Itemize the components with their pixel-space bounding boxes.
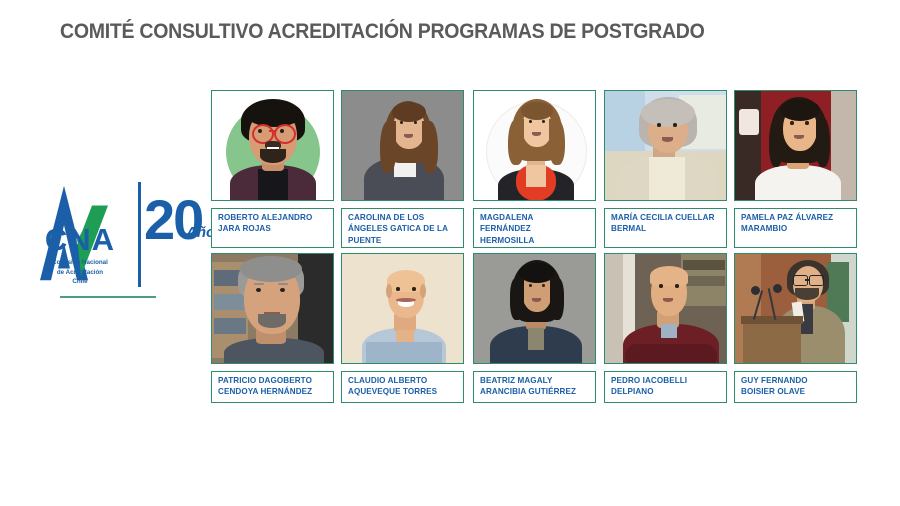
name-line: MAGDALENA [480,212,590,223]
member-name-claudio-alberto-aqueveque-torres: CLAUDIO ALBERTO AQUEVEQUE TORRES [341,371,464,403]
page-title: COMITÉ CONSULTIVO ACREDITACIÓN PROGRAMAS… [60,20,705,44]
name-line: HERMOSILLA [480,235,590,246]
portrait-art [735,254,856,363]
name-line: MARÍA CECILIA CUELLAR [611,212,721,223]
cna-subtitle-line-1: Comisión Nacional [28,258,132,268]
member-name-patricio-dagoberto-cendoya-hernandez: PATRICIO DAGOBERTO CENDOYA HERNÁNDEZ [211,371,334,403]
member-name-guy-fernando-boisier-olave: GUY FERNANDO BOISIER OLAVE [734,371,857,403]
logo-underline [60,296,156,298]
name-line: ARANCIBIA GUTIÉRREZ [480,386,590,397]
portrait-art [474,254,595,363]
name-line: ÁNGELES GATICA DE LA [348,223,458,234]
member-photo-magdalena-fernandez-hermosilla [473,90,596,201]
name-line: PATRICIO DAGOBERTO [218,375,328,386]
name-line: ROBERTO ALEJANDRO [218,212,328,223]
member-name-roberto-alejandro-jara-rojas: ROBERTO ALEJANDRO JARA ROJAS [211,208,334,248]
name-line: PAMELA PAZ ÁLVAREZ [741,212,851,223]
name-line: BEATRIZ MAGALY [480,375,590,386]
name-line: MARAMBIO [741,223,851,234]
name-line: CENDOYA HERNÁNDEZ [218,386,328,397]
member-photo-roberto-alejandro-jara-rojas [211,90,334,201]
cna-subtitle-line-3: Chile [28,277,132,287]
name-line: CLAUDIO ALBERTO [348,375,458,386]
name-line: DELPIANO [611,386,721,397]
name-line: PEDRO IACOBELLI [611,375,721,386]
cna-subtitle-line-2: de Acreditación [28,268,132,278]
portrait-art [342,254,463,363]
portrait-art [342,91,463,200]
name-line: AQUEVEQUE TORRES [348,386,458,397]
portrait-art [212,254,333,363]
portrait-art [474,91,595,200]
name-line: GUY FERNANDO [741,375,851,386]
member-name-beatriz-magaly-arancibia-gutierrez: BEATRIZ MAGALY ARANCIBIA GUTIÉRREZ [473,371,596,403]
member-photo-patricio-dagoberto-cendoya-hernandez [211,253,334,364]
name-line: JARA ROJAS [218,223,328,234]
cna-acronym: CNA [32,224,128,255]
portrait-art [735,91,856,200]
member-name-carolina-de-los-angeles-gatica-de-la-puente: CAROLINA DE LOS ÁNGELES GATICA DE LA PUE… [341,208,464,248]
name-line: FERNÁNDEZ [480,223,590,234]
name-line: BERMAL [611,223,721,234]
member-photo-carolina-de-los-angeles-gatica-de-la-puente [341,90,464,201]
member-name-pedro-iacobelli-delpiano: PEDRO IACOBELLI DELPIANO [604,371,727,403]
member-photo-pedro-iacobelli-delpiano [604,253,727,364]
member-photo-maria-cecilia-cuellar-bermal [604,90,727,201]
portrait-art [212,91,333,200]
member-name-magdalena-fernandez-hermosilla: MAGDALENA FERNÁNDEZ HERMOSILLA [473,208,596,248]
logo-divider [138,182,141,287]
member-photo-claudio-alberto-aqueveque-torres [341,253,464,364]
member-photo-pamela-paz-alvarez-marambio [734,90,857,201]
name-line: PUENTE [348,235,458,246]
member-name-pamela-paz-alvarez-marambio: PAMELA PAZ ÁLVAREZ MARAMBIO [734,208,857,248]
portrait-art [605,254,726,363]
member-photo-guy-fernando-boisier-olave [734,253,857,364]
member-photo-beatriz-magaly-arancibia-gutierrez [473,253,596,364]
cna-subtitle: Comisión Nacional de Acreditación Chile [28,258,132,287]
cna-logo: CNA Comisión Nacional de Acreditación Ch… [28,178,198,298]
portrait-art [605,91,726,200]
member-name-maria-cecilia-cuellar-bermal: MARÍA CECILIA CUELLAR BERMAL [604,208,727,248]
slide-canvas: COMITÉ CONSULTIVO ACREDITACIÓN PROGRAMAS… [0,0,900,506]
name-line: BOISIER OLAVE [741,386,851,397]
name-line: CAROLINA DE LOS [348,212,458,223]
